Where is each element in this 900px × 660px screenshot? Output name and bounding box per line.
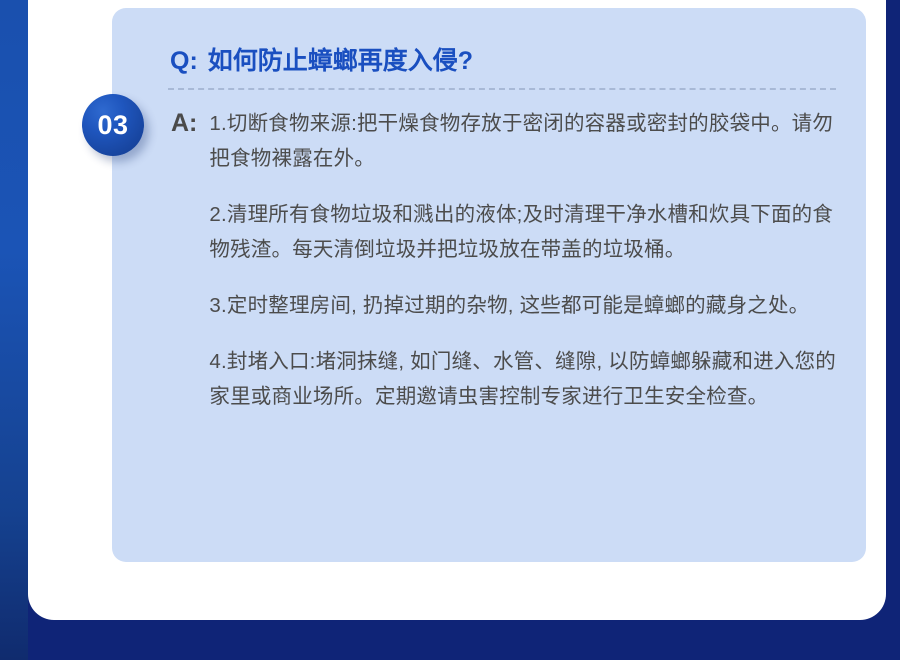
section-divider xyxy=(168,88,836,90)
question-row: Q: 如何防止蟑螂再度入侵? xyxy=(170,41,473,77)
left-accent-strip xyxy=(0,0,28,660)
answer-body: 1.切断食物来源:把干燥食物存放于密闭的容器或密封的胶袋中。请勿把食物裸露在外。… xyxy=(209,106,843,414)
step-number-label: 03 xyxy=(97,112,128,139)
answer-paragraph: 3.定时整理房间, 扔掉过期的杂物, 这些都可能是蟑螂的藏身之处。 xyxy=(209,288,843,323)
question-marker: Q: xyxy=(170,47,198,76)
answer-paragraph: 2.清理所有食物垃圾和溅出的液体;及时清理干净水槽和炊具下面的食物残渣。每天清倒… xyxy=(209,197,843,267)
page-canvas: Q: 如何防止蟑螂再度入侵? A: 1.切断食物来源:把干燥食物存放于密闭的容器… xyxy=(0,0,900,660)
answer-marker: A: xyxy=(171,106,197,141)
question-title: 如何防止蟑螂再度入侵? xyxy=(208,41,473,77)
answer-paragraph: 4.封堵入口:堵洞抹缝, 如门缝、水管、缝隙, 以防蟑螂躲藏和进入您的家里或商业… xyxy=(209,344,843,414)
content-card: Q: 如何防止蟑螂再度入侵? A: 1.切断食物来源:把干燥食物存放于密闭的容器… xyxy=(28,0,886,620)
answer-paragraph: 1.切断食物来源:把干燥食物存放于密闭的容器或密封的胶袋中。请勿把食物裸露在外。 xyxy=(209,106,843,176)
answer-row: A: 1.切断食物来源:把干燥食物存放于密闭的容器或密封的胶袋中。请勿把食物裸露… xyxy=(171,106,843,414)
qa-panel: Q: 如何防止蟑螂再度入侵? A: 1.切断食物来源:把干燥食物存放于密闭的容器… xyxy=(112,8,866,562)
step-number-badge: 03 xyxy=(82,94,144,156)
